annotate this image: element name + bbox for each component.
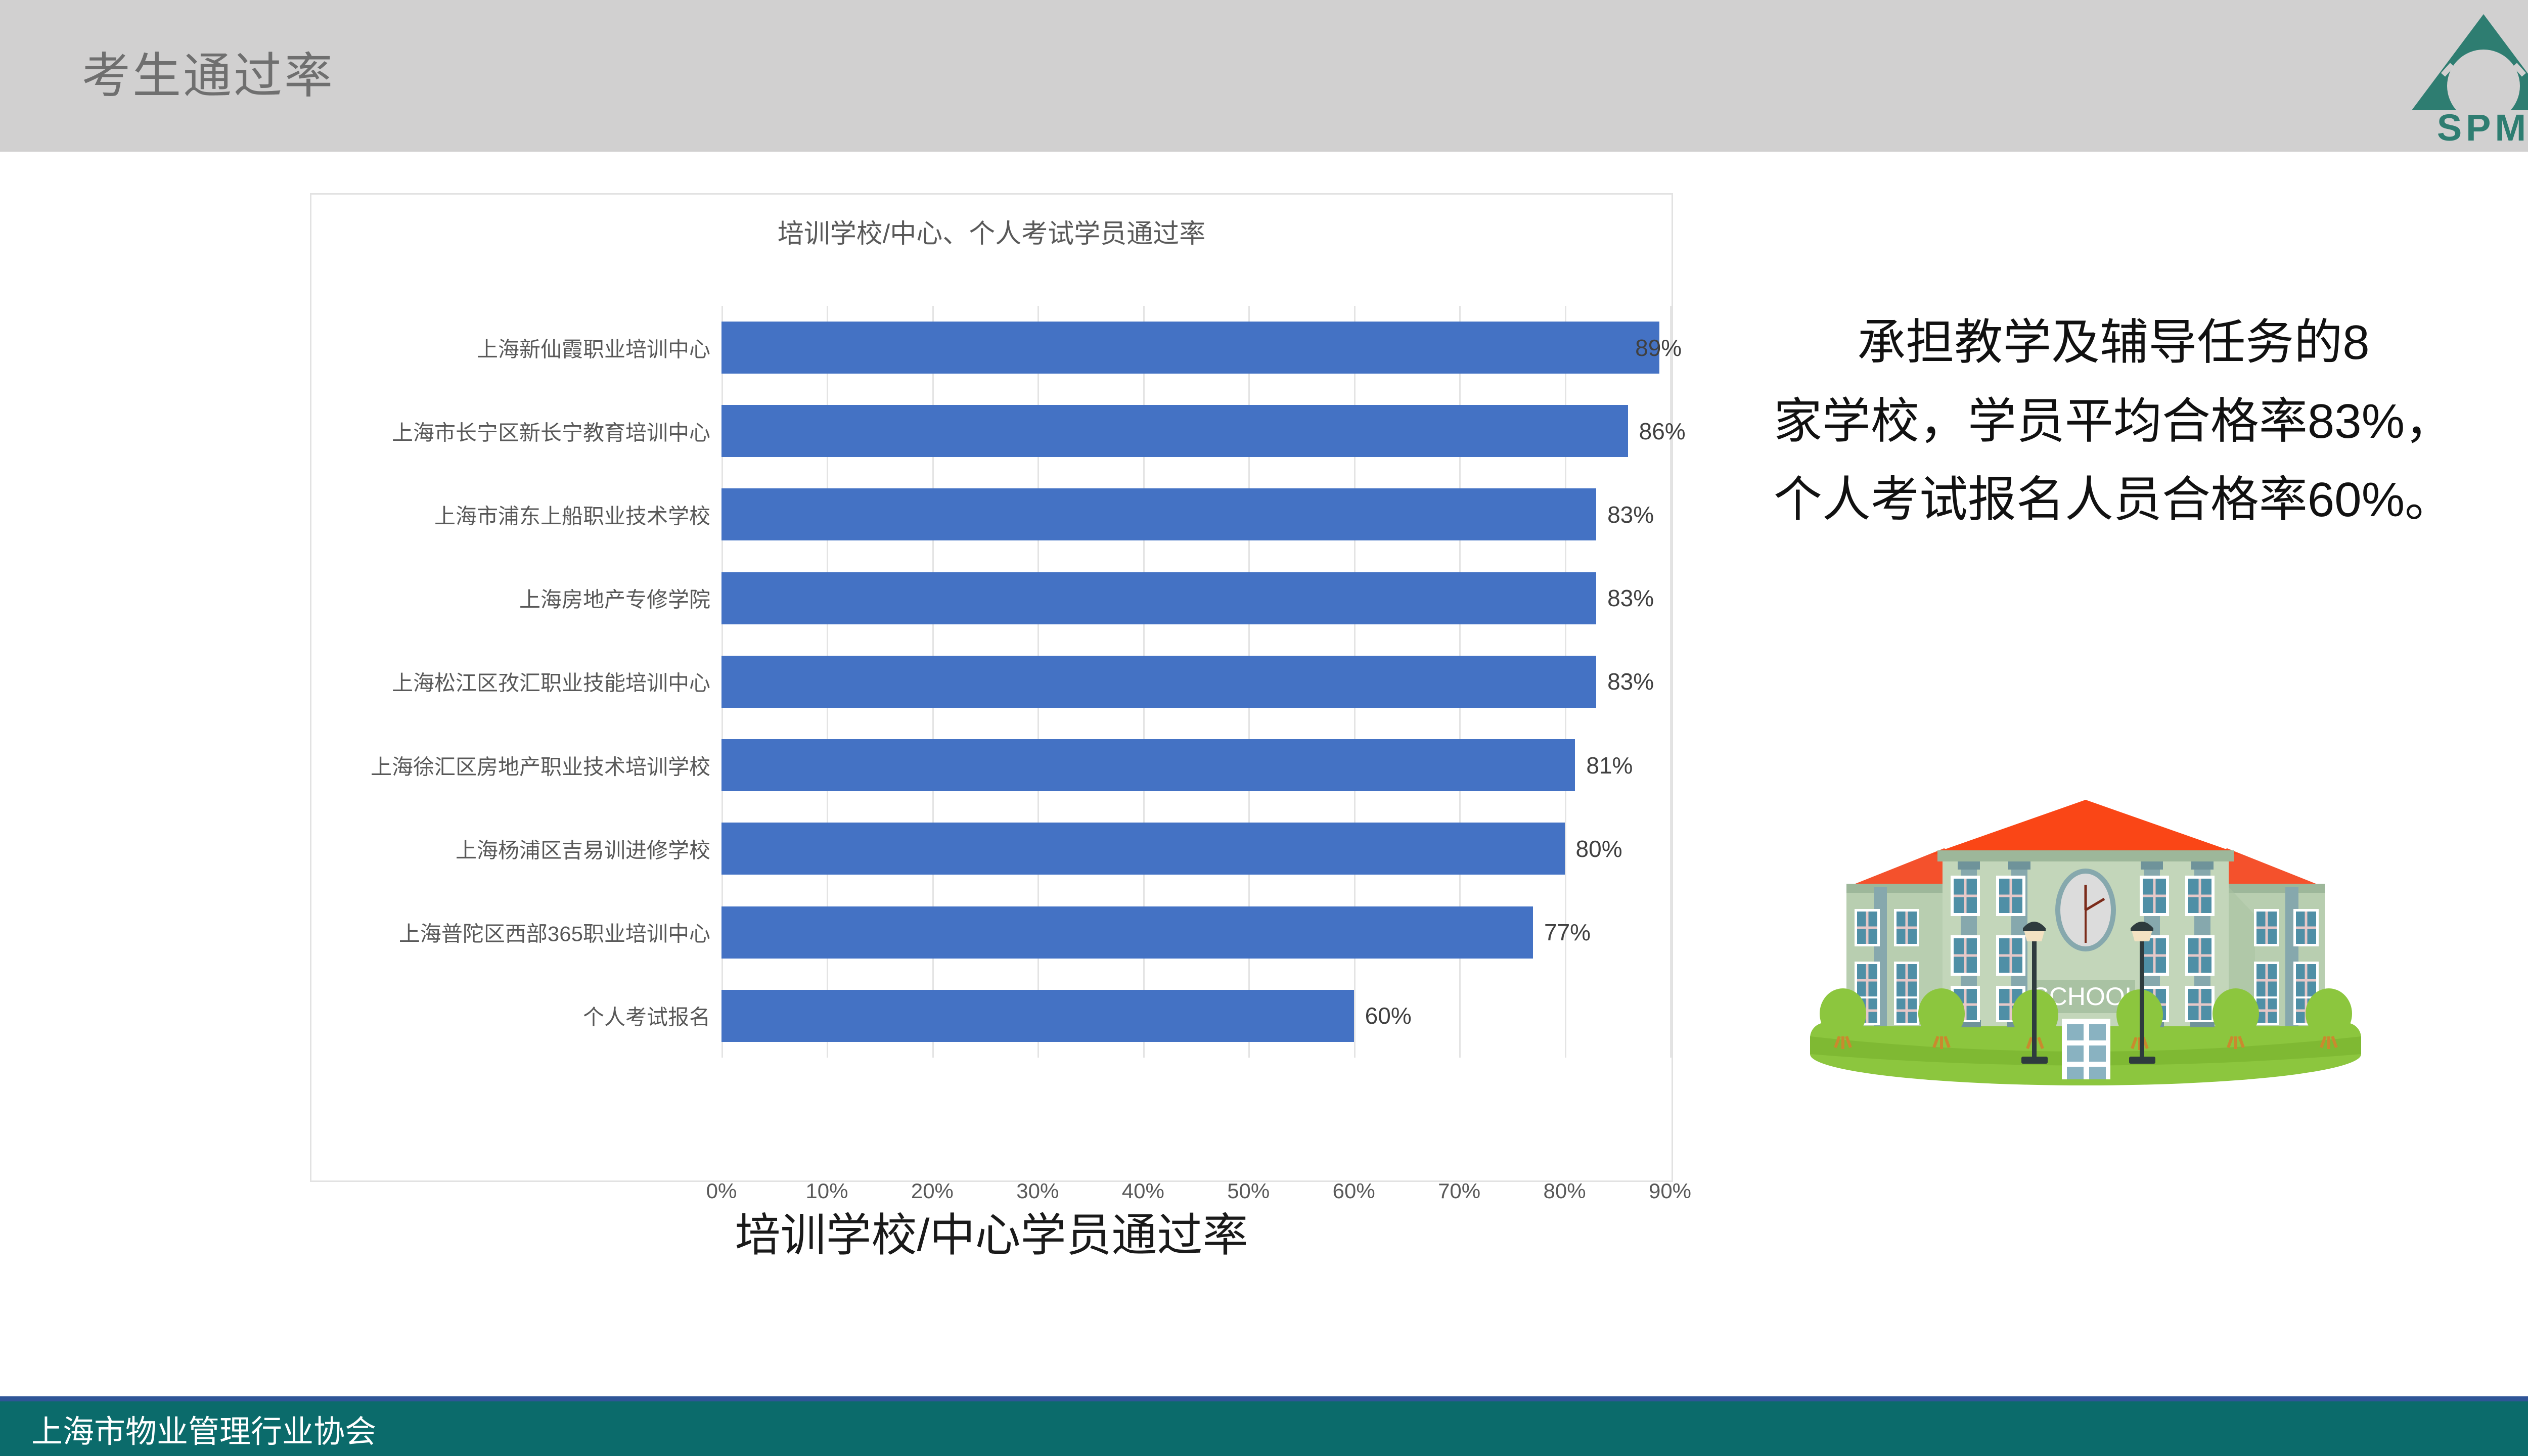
summary-note-line-3: 个人考试报名人员合格率60%。 <box>1719 461 2508 539</box>
bar-row[interactable]: 个人考试报名60% <box>721 974 1670 1058</box>
category-label: 上海新仙霞职业培训中心 <box>477 332 710 363</box>
chart-title: 培训学校/中心、个人考试学员通过率 <box>311 212 1672 250</box>
bar[interactable] <box>721 572 1596 624</box>
bar-row[interactable]: 上海杨浦区吉易训进修学校80% <box>721 807 1670 890</box>
bar-value-label: 89% <box>1635 334 1682 361</box>
bar-row[interactable]: 上海新仙霞职业培训中心89% <box>721 306 1670 389</box>
school-building-illustration: SCHOOL <box>1800 763 2371 1087</box>
bar-row[interactable]: 上海徐汇区房地产职业技术培训学校81% <box>721 723 1670 807</box>
slide: 考生通过率 SPM ® 培训学校/中心、个人考试学员通过率 0%10%20%30… <box>0 0 2528 1456</box>
summary-note: 承担教学及辅导任务的8 家学校，学员平均合格率83%， 个人考试报名人员合格率6… <box>1719 303 2508 539</box>
bar-row[interactable]: 上海普陀区西部365职业培训中心77% <box>721 891 1670 974</box>
bar[interactable] <box>721 906 1533 959</box>
spm-logo-mark: SPM ® <box>2408 10 2528 147</box>
bar-value-label: 83% <box>1607 584 1654 612</box>
bar-value-label: 86% <box>1639 418 1686 445</box>
bar[interactable] <box>721 322 1659 374</box>
bar-row[interactable]: 上海市长宁区新长宁教育培训中心86% <box>721 389 1670 473</box>
bar-value-label: 77% <box>1544 919 1591 946</box>
bar-value-label: 83% <box>1607 668 1654 695</box>
category-label: 上海市浦东上船职业技术学校 <box>434 499 710 530</box>
page-title: 考生通过率 <box>82 36 335 107</box>
spm-logo: SPM ® <box>2408 10 2528 147</box>
chart-caption: 培训学校/中心学员通过率 <box>310 1198 1673 1264</box>
category-label: 上海松江区孜汇职业技能培训中心 <box>392 666 710 697</box>
bar-value-label: 60% <box>1365 1002 1412 1029</box>
category-label: 个人考试报名 <box>583 1000 710 1031</box>
bar[interactable] <box>721 488 1596 540</box>
bar[interactable] <box>721 990 1354 1042</box>
header-band <box>0 0 2528 152</box>
category-label: 上海杨浦区吉易训进修学校 <box>456 833 710 864</box>
category-label: 上海市长宁区新长宁教育培训中心 <box>392 416 710 446</box>
summary-note-line-2: 家学校，学员平均合格率83%， <box>1719 382 2508 461</box>
bar-value-label: 83% <box>1607 501 1654 528</box>
category-label: 上海普陀区西部365职业培训中心 <box>399 917 710 948</box>
bar[interactable] <box>721 656 1596 708</box>
bar-value-label: 80% <box>1576 835 1622 862</box>
summary-note-line-1: 承担教学及辅导任务的8 <box>1719 303 2508 382</box>
footer-bar: 上海市物业管理行业协会 5 <box>0 1396 2528 1456</box>
bar-row[interactable]: 上海房地产专修学院83% <box>721 557 1670 640</box>
bar[interactable] <box>721 405 1628 457</box>
footer-organization: 上海市物业管理行业协会 <box>31 1406 376 1451</box>
plot-area: 0%10%20%30%40%50%60%70%80%90%上海新仙霞职业培训中心… <box>721 306 1670 1058</box>
chart-container: 培训学校/中心、个人考试学员通过率 0%10%20%30%40%50%60%70… <box>310 193 1673 1182</box>
category-label: 上海徐汇区房地产职业技术培训学校 <box>371 750 710 781</box>
bar-row[interactable]: 上海松江区孜汇职业技能培训中心83% <box>721 640 1670 723</box>
bar-value-label: 81% <box>1586 752 1633 779</box>
bar[interactable] <box>721 823 1565 875</box>
bar[interactable] <box>721 739 1575 791</box>
svg-text:SPM: SPM <box>2437 107 2528 147</box>
category-label: 上海房地产专修学院 <box>519 583 710 614</box>
bar-row[interactable]: 上海市浦东上船职业技术学校83% <box>721 473 1670 556</box>
